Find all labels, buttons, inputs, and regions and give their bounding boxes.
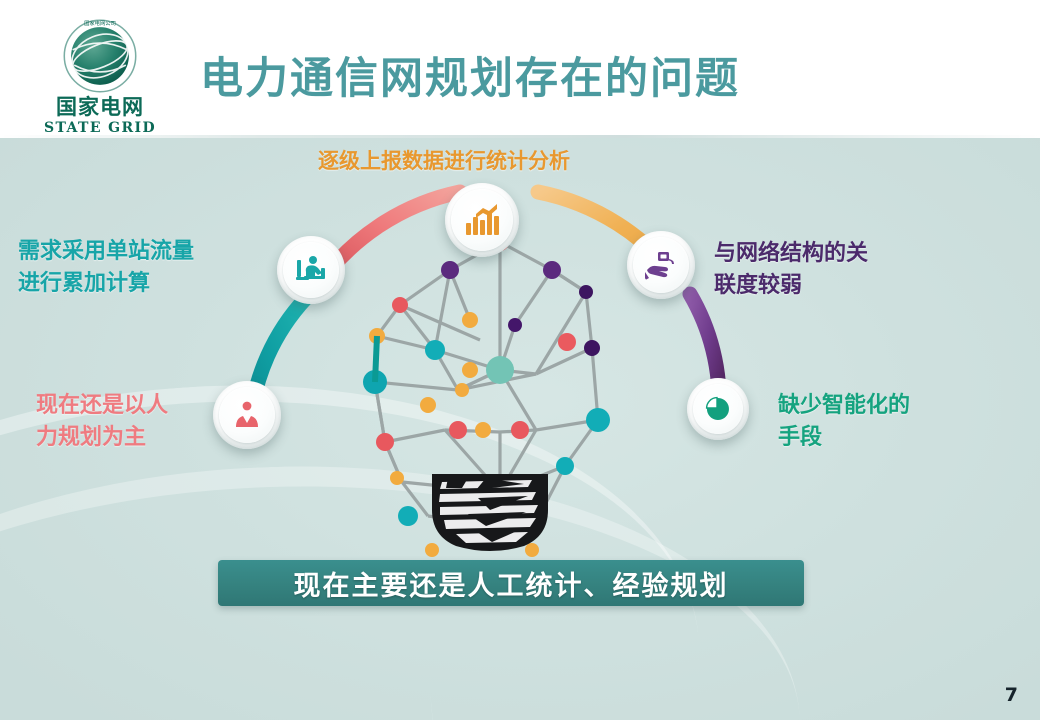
- state-grid-logo: 国家电网公司 国家电网 STATE GRID: [30, 16, 170, 131]
- bar-chart-growth-icon: [464, 203, 500, 237]
- page-number: 7: [1005, 684, 1018, 706]
- logo-name-cn: 国家电网: [30, 96, 170, 118]
- node-bubble-top[interactable]: [445, 183, 519, 257]
- label-top: 逐级上报数据进行统计分析: [318, 148, 570, 174]
- state-grid-globe-icon: 国家电网公司: [62, 18, 138, 94]
- node-bubble-lower-right[interactable]: [687, 378, 749, 440]
- summary-banner: 现在主要还是人工统计、经验规划: [218, 560, 804, 606]
- person-at-desk-icon: [295, 254, 327, 286]
- label-upper-right: 与网络结构的关 联度较弱: [714, 238, 868, 302]
- hand-holding-device-icon: [645, 250, 677, 280]
- page-title: 电力通信网规划存在的问题: [200, 44, 740, 106]
- logo-name-en: STATE GRID: [30, 120, 170, 136]
- label-lower-right: 缺少智能化的 手段: [778, 390, 910, 454]
- node-bubble-upper-left[interactable]: [277, 236, 345, 304]
- header-divider: [0, 135, 1040, 138]
- person-group-icon: [232, 400, 262, 430]
- summary-banner-text: 现在主要还是人工统计、经验规划: [294, 564, 729, 603]
- network-highlight-edge: [375, 336, 377, 382]
- pie-chart-icon: [703, 394, 733, 424]
- slide-header: 国家电网公司 国家电网 STATE GRID 电力通信网规划存在的问题: [0, 0, 1040, 137]
- label-lower-left: 现在还是以人 力规划为主: [36, 390, 168, 454]
- node-bubble-lower-left[interactable]: [213, 381, 281, 449]
- lightbulb-base-icon: [428, 470, 552, 552]
- label-upper-left: 需求采用单站流量 进行累加计算: [18, 236, 194, 300]
- node-bubble-upper-right[interactable]: [627, 231, 695, 299]
- slide-root: 逐级上报数据进行统计分析 需求采用单站流量 进行累加计算 与网络结构的关 联度较…: [0, 0, 1040, 720]
